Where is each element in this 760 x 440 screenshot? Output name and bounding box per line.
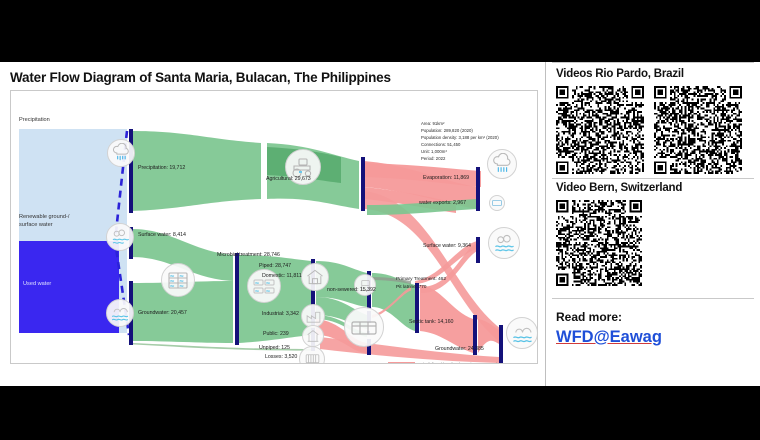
flow-label-piped: Piped: 28,747 [259, 263, 291, 269]
sankey-chart-frame: Precipitation Renewable ground-/ surface… [10, 90, 538, 364]
qr-code-rio-pardo-1[interactable] [556, 86, 644, 174]
qr-code-rio-pardo-2[interactable] [654, 86, 742, 174]
chart-legend: potentially problematic urban water mana… [388, 362, 497, 364]
public-building-icon [302, 325, 324, 347]
meta-unit: Unit: 1,000m³ [421, 149, 538, 156]
flow-label-surface-water-in: Surface water: 8,414 [138, 232, 186, 238]
flow-label-precipitation: Precipitation: 19,712 [138, 165, 185, 171]
category-label-renewable-water: Renewable ground-/ surface water [19, 214, 69, 229]
category-label-used-water: Used water [23, 281, 51, 289]
flow-label-surface-water-out: Surface water: 9,364 [423, 243, 471, 249]
video-bern-title: Video Bern, Switzerland [556, 182, 682, 194]
meta-population: Population: 289,820 (2020) [421, 128, 538, 135]
flow-label-water-exports: water exports: 2,967 [419, 200, 466, 206]
category-label-precipitation: Precipitation [19, 117, 50, 125]
flow-label-evaporation: Evaporation: 11,869 [423, 175, 469, 181]
meta-connections: Connections: 51,450 [421, 142, 538, 149]
wfd-eawag-link[interactable]: WFD@Eawag [556, 328, 662, 347]
legend-item-problematic: potentially problematic urban water mana… [388, 362, 497, 364]
meta-population-density: Population density: 3,188 per km² (2020) [421, 135, 538, 142]
panel-divider-bottom [552, 298, 754, 299]
microbial-treatment-plant-icon [161, 263, 195, 297]
flow-label-unpiped: Unpiped: 125 [259, 345, 290, 351]
surface-water-icon [106, 223, 134, 251]
slide-stage: Water Flow Diagram of Santa Maria, Bulac… [0, 0, 760, 440]
flow-label-domestic: Domestic: 11,811 [262, 273, 302, 279]
meta-period: Period: 2022 [421, 156, 538, 163]
water-export-icon [489, 195, 505, 211]
water-flow-diagram-panel: Water Flow Diagram of Santa Maria, Bulac… [0, 62, 546, 386]
flow-label-septic-tank: Septic tank: 14,160 [409, 319, 453, 325]
septic-tank-icon [344, 307, 384, 347]
flow-label-agricultural: Agricultural: 29,673 [266, 176, 311, 182]
flow-label-public: Public: 239 [263, 331, 289, 337]
links-panel: Videos Rio Pardo, Brazil Video Bern, Swi… [546, 62, 760, 386]
flow-label-industrial: Industrial: 3,342 [262, 311, 299, 317]
flow-label-non-sewered: non-sewered: 15,392 [327, 287, 376, 293]
flow-label-groundwater-in: Groundwater: 20,457 [138, 310, 187, 316]
flow-label-microbial-treatment: Microbial treatment: 28,746 [217, 252, 280, 258]
qr-code-video-bern[interactable] [556, 200, 642, 286]
cloud-rain-icon [107, 139, 135, 167]
read-more-label: Read more: [556, 310, 622, 324]
presentation-slide: Water Flow Diagram of Santa Maria, Bulac… [0, 62, 760, 386]
legend-swatch-problematic [388, 362, 415, 364]
page-title: Water Flow Diagram of Santa Maria, Bulac… [10, 70, 391, 85]
domestic-household-icon [301, 263, 329, 291]
flow-label-pit-latrine: Pit latrine: 770 [396, 285, 426, 290]
meta-area: Area: 91km² [421, 121, 538, 128]
surface-water-out-icon [488, 227, 520, 259]
flow-label-primary-treatment: Primary Treatment: 462 [396, 277, 446, 282]
groundwater-icon [106, 299, 134, 327]
videos-brazil-title: Videos Rio Pardo, Brazil [556, 68, 684, 80]
panel-divider-top [552, 62, 754, 63]
panel-divider-middle [552, 178, 754, 179]
flow-label-losses: Losses: 3,520 [265, 354, 297, 360]
groundwater-out-icon [506, 317, 538, 349]
diagram-metadata: Area: 91km² Population: 289,820 (2020) P… [421, 121, 538, 163]
legend-label-problematic: potentially problematic urban water mana… [419, 362, 497, 364]
flow-label-groundwater-out: Groundwater: 24,385 [435, 346, 484, 352]
